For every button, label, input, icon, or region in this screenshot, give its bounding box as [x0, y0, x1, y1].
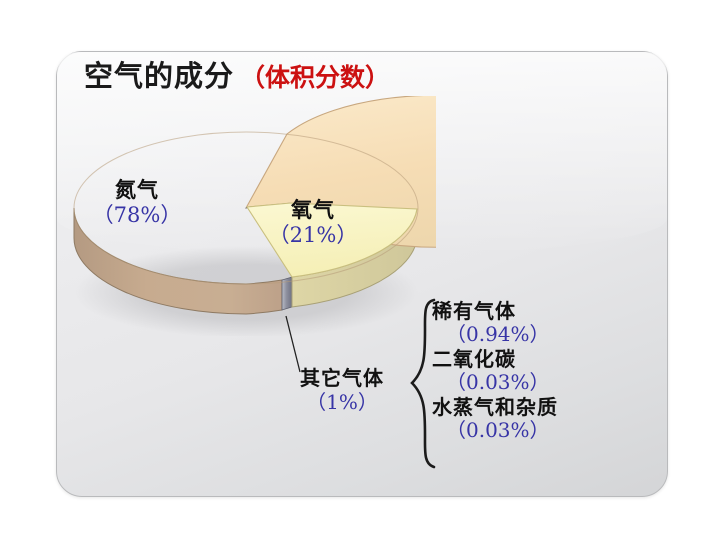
pie-label-other: 其它气体 （1%） [282, 366, 402, 414]
pie-label-nitrogen-name: 氮气 [82, 178, 192, 203]
pie-label-oxygen-pct: （21%） [258, 223, 368, 248]
pie-label-nitrogen: 氮气 （78%） [82, 178, 192, 228]
breakdown-pct-1: （0.03%） [432, 371, 647, 394]
breakdown-name-1: 二氧化碳 [432, 348, 647, 371]
breakdown-list: 稀有气体 （0.94%） 二氧化碳 （0.03%） 水蒸气和杂质 （0.03%） [432, 300, 647, 444]
pie-label-oxygen-name: 氧气 [258, 198, 368, 223]
pie-label-other-pct: （1%） [282, 390, 402, 414]
breakdown-pct-2: （0.03%） [432, 419, 647, 442]
title-main-text: 空气的成分 [84, 59, 234, 93]
breakdown-pct-0: （0.94%） [432, 323, 647, 346]
breakdown-name-0: 稀有气体 [432, 300, 647, 323]
list-item: 稀有气体 （0.94%） [432, 300, 647, 346]
pie-label-other-name: 其它气体 [282, 366, 402, 390]
list-item: 二氧化碳 （0.03%） [432, 348, 647, 394]
page-title: 空气的成分（体积分数） [84, 62, 390, 91]
breakdown-name-2: 水蒸气和杂质 [432, 396, 647, 419]
title-sub-text: （体积分数） [240, 63, 390, 92]
pie-label-nitrogen-pct: （78%） [82, 203, 192, 228]
list-item: 水蒸气和杂质 （0.03%） [432, 396, 647, 442]
slide-canvas: 空气的成分（体积分数） [0, 0, 720, 540]
pie-label-oxygen: 氧气 （21%） [258, 198, 368, 248]
